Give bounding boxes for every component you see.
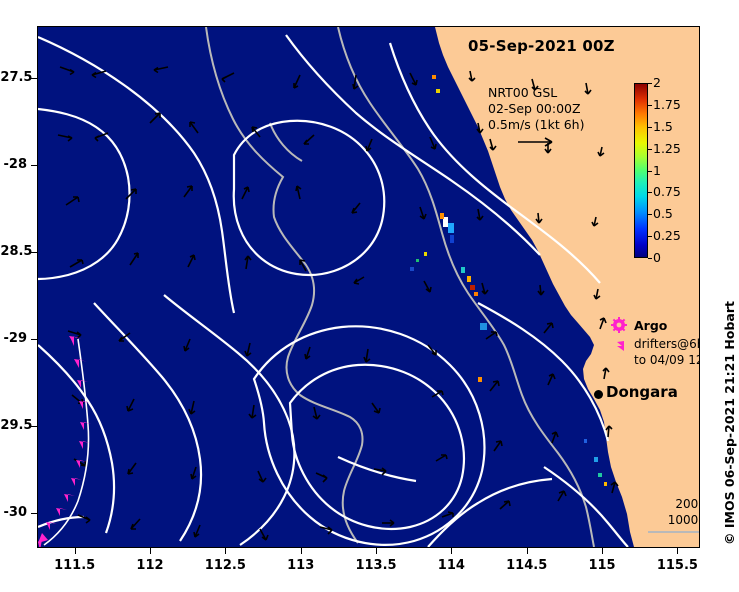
- y-tick-label: -29.5: [0, 418, 27, 433]
- colorbar-tick: [648, 258, 652, 259]
- colorbar-tick-label: 1.75: [653, 97, 681, 112]
- x-tick: [602, 548, 603, 554]
- x-tick: [301, 548, 302, 554]
- colorbar-tick-label: 0.25: [653, 228, 681, 243]
- colorbar-tick: [648, 236, 652, 237]
- drifter-legend-label: drifters@6h: [634, 337, 700, 352]
- colorbar-tick-label: 0.5: [653, 206, 673, 221]
- scale-bar-line: [648, 531, 700, 533]
- x-tick-label: 112.5: [195, 558, 255, 573]
- drifter-marker-icon: [612, 339, 628, 353]
- x-tick-label: 115: [572, 558, 632, 573]
- colorbar-tick-label: 1.25: [653, 141, 681, 156]
- map-title: 05-Sep-2021 00Z: [468, 37, 615, 55]
- colorbar-tick-label: 1: [653, 163, 661, 178]
- y-tick-label: -28: [0, 157, 27, 172]
- credit-text: © IMOS 06-Sep-2021 21:21 Hobart: [722, 301, 737, 545]
- drifter-valid-label: to 04/09 12Z: [634, 353, 700, 368]
- map-figure: 05-Sep-2021 00Z NRT00 GSL 02-Sep 00:00Z …: [0, 0, 739, 592]
- colorbar-tick-label: 0.75: [653, 184, 681, 199]
- y-tick: [31, 513, 37, 514]
- x-tick: [376, 548, 377, 554]
- x-tick: [677, 548, 678, 554]
- colorbar-tick-label: 2: [653, 75, 661, 90]
- colorbar: [634, 83, 648, 258]
- colorbar-tick: [648, 83, 652, 84]
- y-tick: [31, 339, 37, 340]
- argo-legend-label: Argo: [634, 318, 667, 333]
- colorbar-tick-label: 0: [653, 250, 661, 265]
- reference-arrow-icon: [516, 135, 560, 149]
- x-tick-label: 114.5: [497, 558, 557, 573]
- x-tick: [75, 548, 76, 554]
- vector-legend-line3: 0.5m/s (1kt 6h): [488, 117, 584, 132]
- dongara-label: Dongara: [606, 383, 678, 401]
- y-tick-label: -29: [0, 331, 27, 346]
- scale-shallow-label: 200m: [638, 497, 700, 512]
- x-tick-label: 114: [421, 558, 481, 573]
- map-canvas: [38, 27, 699, 547]
- x-tick-label: 113: [271, 558, 331, 573]
- x-tick: [451, 548, 452, 554]
- dongara-marker[interactable]: [594, 390, 603, 399]
- y-tick-label: -30: [0, 505, 27, 520]
- colorbar-tick: [648, 105, 652, 106]
- colorbar-tick: [648, 127, 652, 128]
- x-tick-label: 111.5: [45, 558, 105, 573]
- colorbar-tick: [648, 171, 652, 172]
- x-tick-label: 112: [120, 558, 180, 573]
- colorbar-tick: [648, 214, 652, 215]
- x-tick: [527, 548, 528, 554]
- x-tick: [150, 548, 151, 554]
- x-tick-label: 113.5: [346, 558, 406, 573]
- x-tick-label: 115.5: [647, 558, 707, 573]
- map-plot-area[interactable]: 05-Sep-2021 00Z NRT00 GSL 02-Sep 00:00Z …: [37, 26, 700, 548]
- colorbar-tick: [648, 192, 652, 193]
- colorbar-tick: [648, 149, 652, 150]
- vector-legend-line1: NRT00 GSL: [488, 85, 557, 100]
- vector-legend-line2: 02-Sep 00:00Z: [488, 101, 581, 116]
- y-tick-label: -28.5: [0, 244, 27, 259]
- colorbar-tick-label: 1.5: [653, 119, 673, 134]
- y-tick: [31, 165, 37, 166]
- argo-marker-icon: [611, 317, 627, 333]
- x-tick: [225, 548, 226, 554]
- scale-deep-label: 1000m: [638, 513, 700, 527]
- y-tick-label: -27.5: [0, 70, 27, 85]
